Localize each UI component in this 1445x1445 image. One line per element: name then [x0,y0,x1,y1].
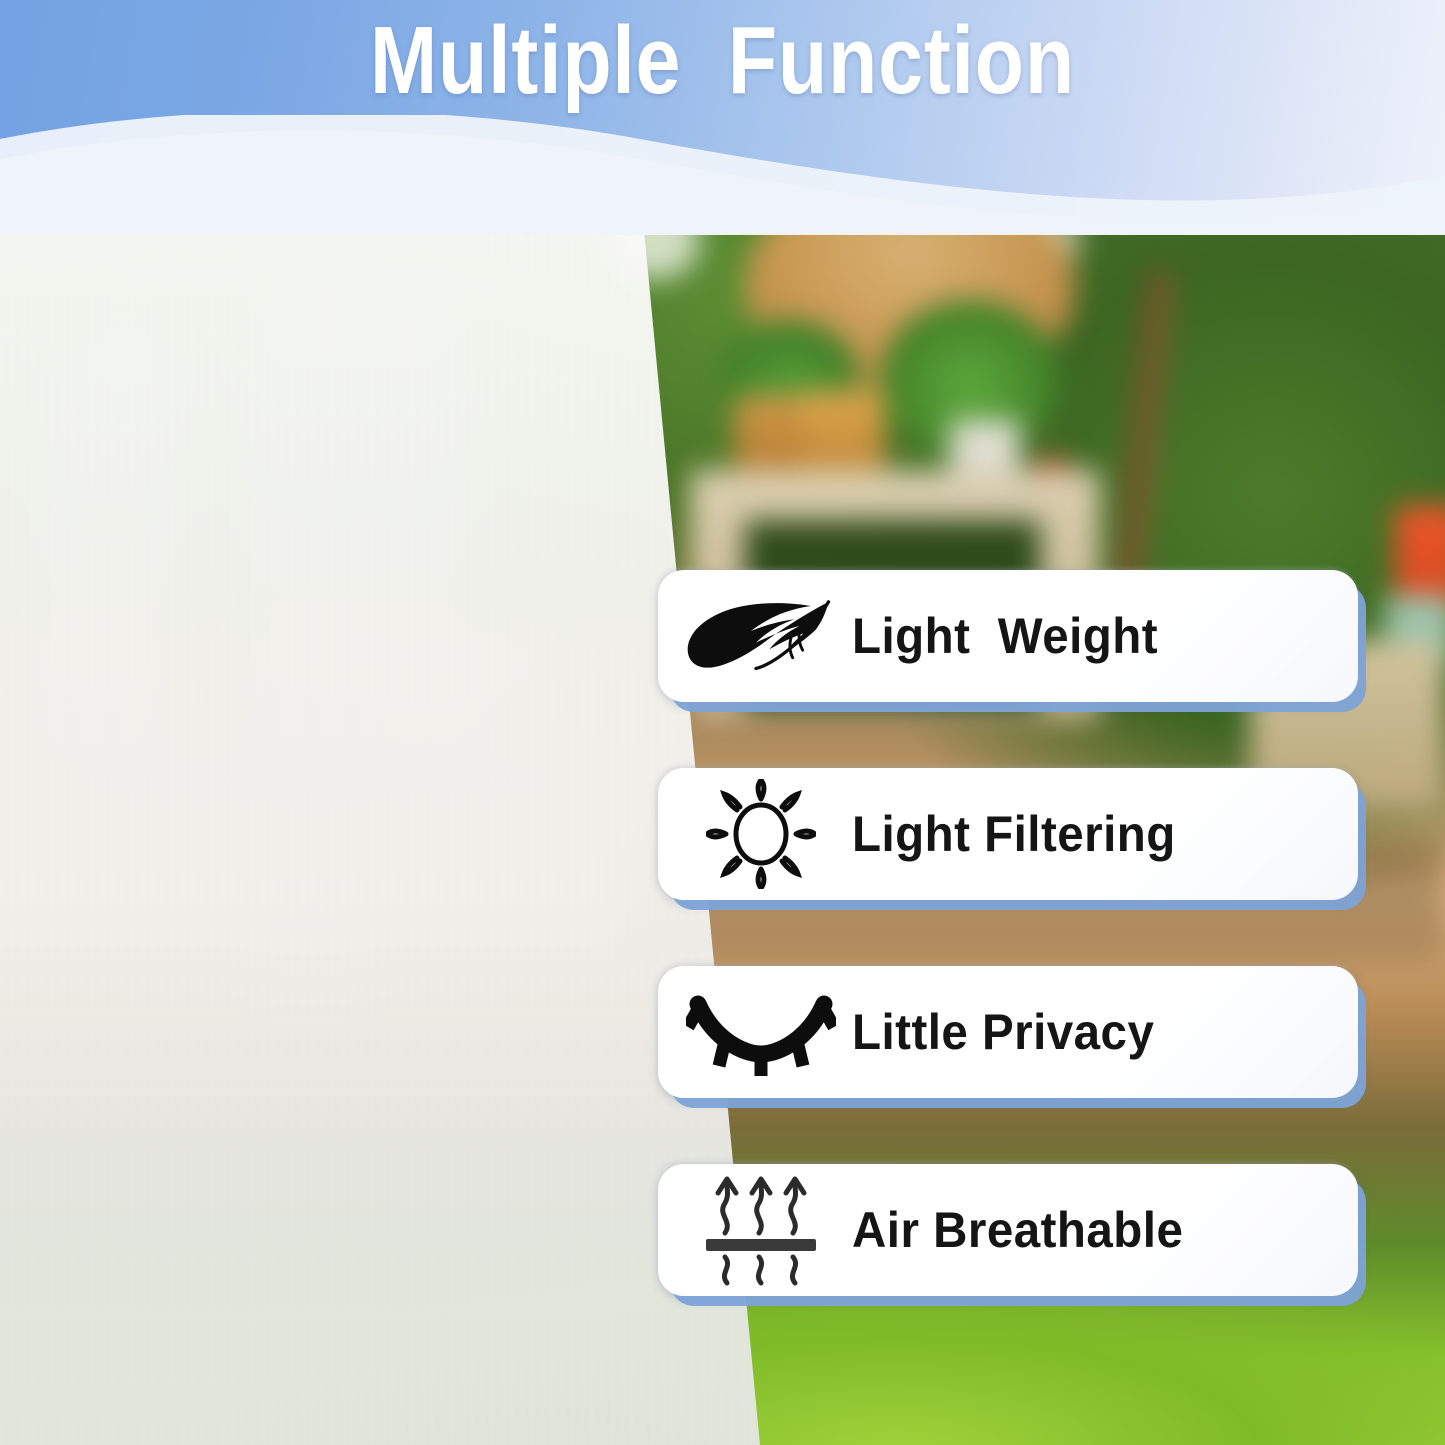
sun-icon [686,780,836,888]
feature-card-light-filtering[interactable]: Light Filtering [658,768,1358,900]
page-title: Multiple Function [116,13,1330,109]
feature-label: Light Weight [852,607,1158,665]
feather-icon [686,582,836,690]
header-banner: Multiple Function [0,0,1445,235]
tree-trunk [1113,270,1173,601]
closed-eye-icon [686,978,836,1086]
infographic-canvas: Multiple Function Light Weight [0,0,1445,1445]
feature-label: Light Filtering [852,805,1176,863]
feature-card-list: Light Weight [658,570,1370,1296]
terracotta-pot-left [735,395,810,480]
feature-card-air-breathable[interactable]: Air Breathable [658,1164,1358,1296]
banner-wave-divider [0,115,1445,235]
feature-label: Little Privacy [852,1003,1154,1061]
feature-card-little-privacy[interactable]: Little Privacy [658,966,1358,1098]
feature-label: Air Breathable [852,1201,1183,1259]
feature-card-light-weight[interactable]: Light Weight [658,570,1358,702]
air-flow-icon [686,1176,836,1284]
